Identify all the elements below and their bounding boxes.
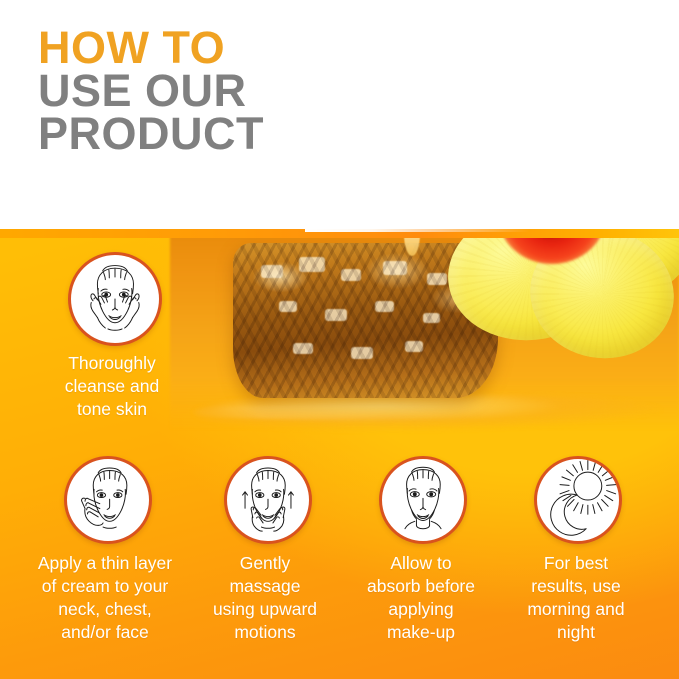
caption-line: tone skin: [42, 398, 182, 421]
face-massage-upward-icon: [224, 456, 312, 544]
caption-line: applying: [348, 598, 494, 621]
caption-line: motions: [188, 621, 342, 644]
caption-line: cleanse and: [42, 375, 182, 398]
header-accent-band: [0, 229, 679, 238]
caption-line: morning and: [505, 598, 647, 621]
step-3-caption: Gently massage using upward motions: [188, 552, 342, 644]
caption-line: results, use: [505, 575, 647, 598]
caption-line: absorb before: [348, 575, 494, 598]
caption-line: massage: [188, 575, 342, 598]
poster-root: HOW TO USE OUR PRODUCT: [0, 0, 679, 679]
caption-line: and/or face: [12, 621, 198, 644]
title-line-1: HOW TO: [38, 26, 318, 69]
step-2-caption: Apply a thin layer of cream to your neck…: [12, 552, 198, 644]
step-1-caption: Thoroughly cleanse and tone skin: [42, 352, 182, 421]
step-4-caption: Allow to absorb before applying make-up: [348, 552, 494, 644]
caption-line: using upward: [188, 598, 342, 621]
caption-line: Allow to: [348, 552, 494, 575]
caption-line: Gently: [188, 552, 342, 575]
caption-line: neck, chest,: [12, 598, 198, 621]
face-apply-cream-icon: [64, 456, 152, 544]
title-line-3: PRODUCT: [38, 112, 318, 155]
page-title: HOW TO USE OUR PRODUCT: [38, 26, 318, 156]
step-5-caption: For best results, use morning and night: [505, 552, 647, 644]
caption-line: make-up: [348, 621, 494, 644]
caption-line: night: [505, 621, 647, 644]
sun-moon-icon: [534, 456, 622, 544]
face-cleansing-icon: [68, 252, 162, 346]
face-plain-icon: [379, 456, 467, 544]
title-line-2: USE OUR: [38, 69, 318, 112]
caption-line: For best: [505, 552, 647, 575]
honey-pool-highlight: [195, 395, 665, 431]
caption-line: Thoroughly: [42, 352, 182, 375]
caption-line: Apply a thin layer: [12, 552, 198, 575]
caption-line: of cream to your: [12, 575, 198, 598]
